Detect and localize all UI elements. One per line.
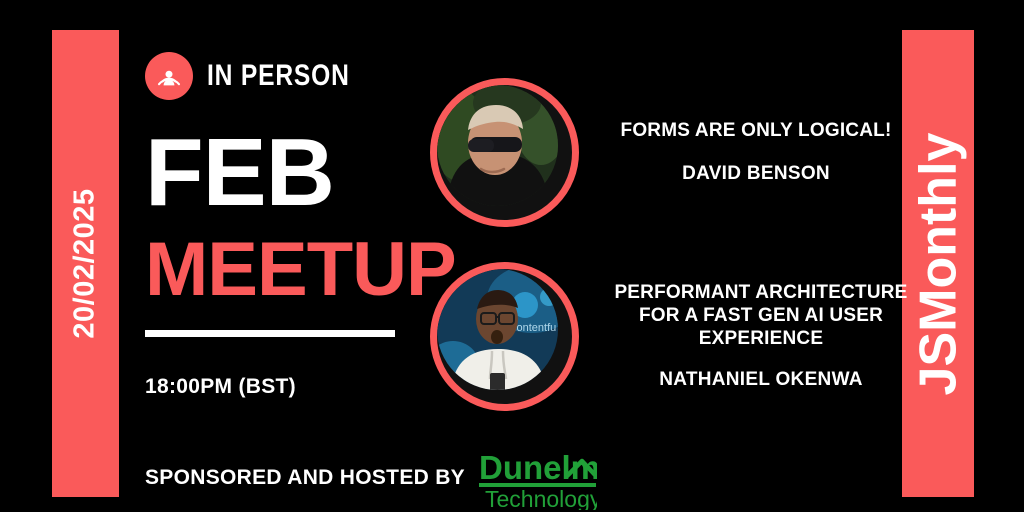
talk-info-1: FORMS ARE ONLY LOGICAL! DAVID BENSON — [601, 120, 911, 185]
headline-meetup: MEETUP — [145, 232, 445, 308]
svg-text:contentfu: contentfu — [511, 322, 556, 334]
date-strip: 20/02/2025 — [52, 30, 119, 497]
event-date: 20/02/2025 — [69, 188, 102, 338]
talk-title-2: PERFORMANT ARCHITECTURE FOR A FAST GEN A… — [601, 282, 921, 350]
event-time: 18:00PM (BST) — [145, 375, 445, 399]
svg-text:Dunelm: Dunelm — [479, 449, 597, 486]
speaker-block-1: FORMS ARE ONLY LOGICAL! DAVID BENSON — [430, 78, 911, 227]
sponsor-label: SPONSORED AND HOSTED BY — [145, 466, 465, 490]
svg-text:Technology: Technology — [485, 486, 597, 510]
speaker-avatar-1 — [430, 78, 579, 227]
left-content-column: IN PERSON FEB MEETUP 18:00PM (BST) SPONS… — [145, 48, 445, 488]
speaker-name-1: DAVID BENSON — [601, 163, 911, 185]
talk-title-1: FORMS ARE ONLY LOGICAL! — [601, 120, 911, 143]
speaker-block-2: contentfu — [430, 262, 921, 411]
dunelm-technology-logo: Dunelm Technology — [479, 446, 597, 510]
headline-month: FEB — [145, 126, 445, 220]
speaker-avatar-2: contentfu — [430, 262, 579, 411]
broadcast-person-icon — [145, 52, 193, 100]
speaker-name-2: NATHANIEL OKENWA — [601, 369, 921, 391]
sponsor-row: SPONSORED AND HOSTED BY Dunelm Technolog… — [145, 446, 597, 510]
talk-info-2: PERFORMANT ARCHITECTURE FOR A FAST GEN A… — [601, 282, 921, 390]
divider — [145, 330, 395, 337]
event-poster: 20/02/2025 JSMonthly IN PERSON FEB MEETU… — [0, 0, 1024, 512]
in-person-label: IN PERSON — [207, 59, 350, 93]
in-person-badge: IN PERSON — [145, 48, 445, 104]
